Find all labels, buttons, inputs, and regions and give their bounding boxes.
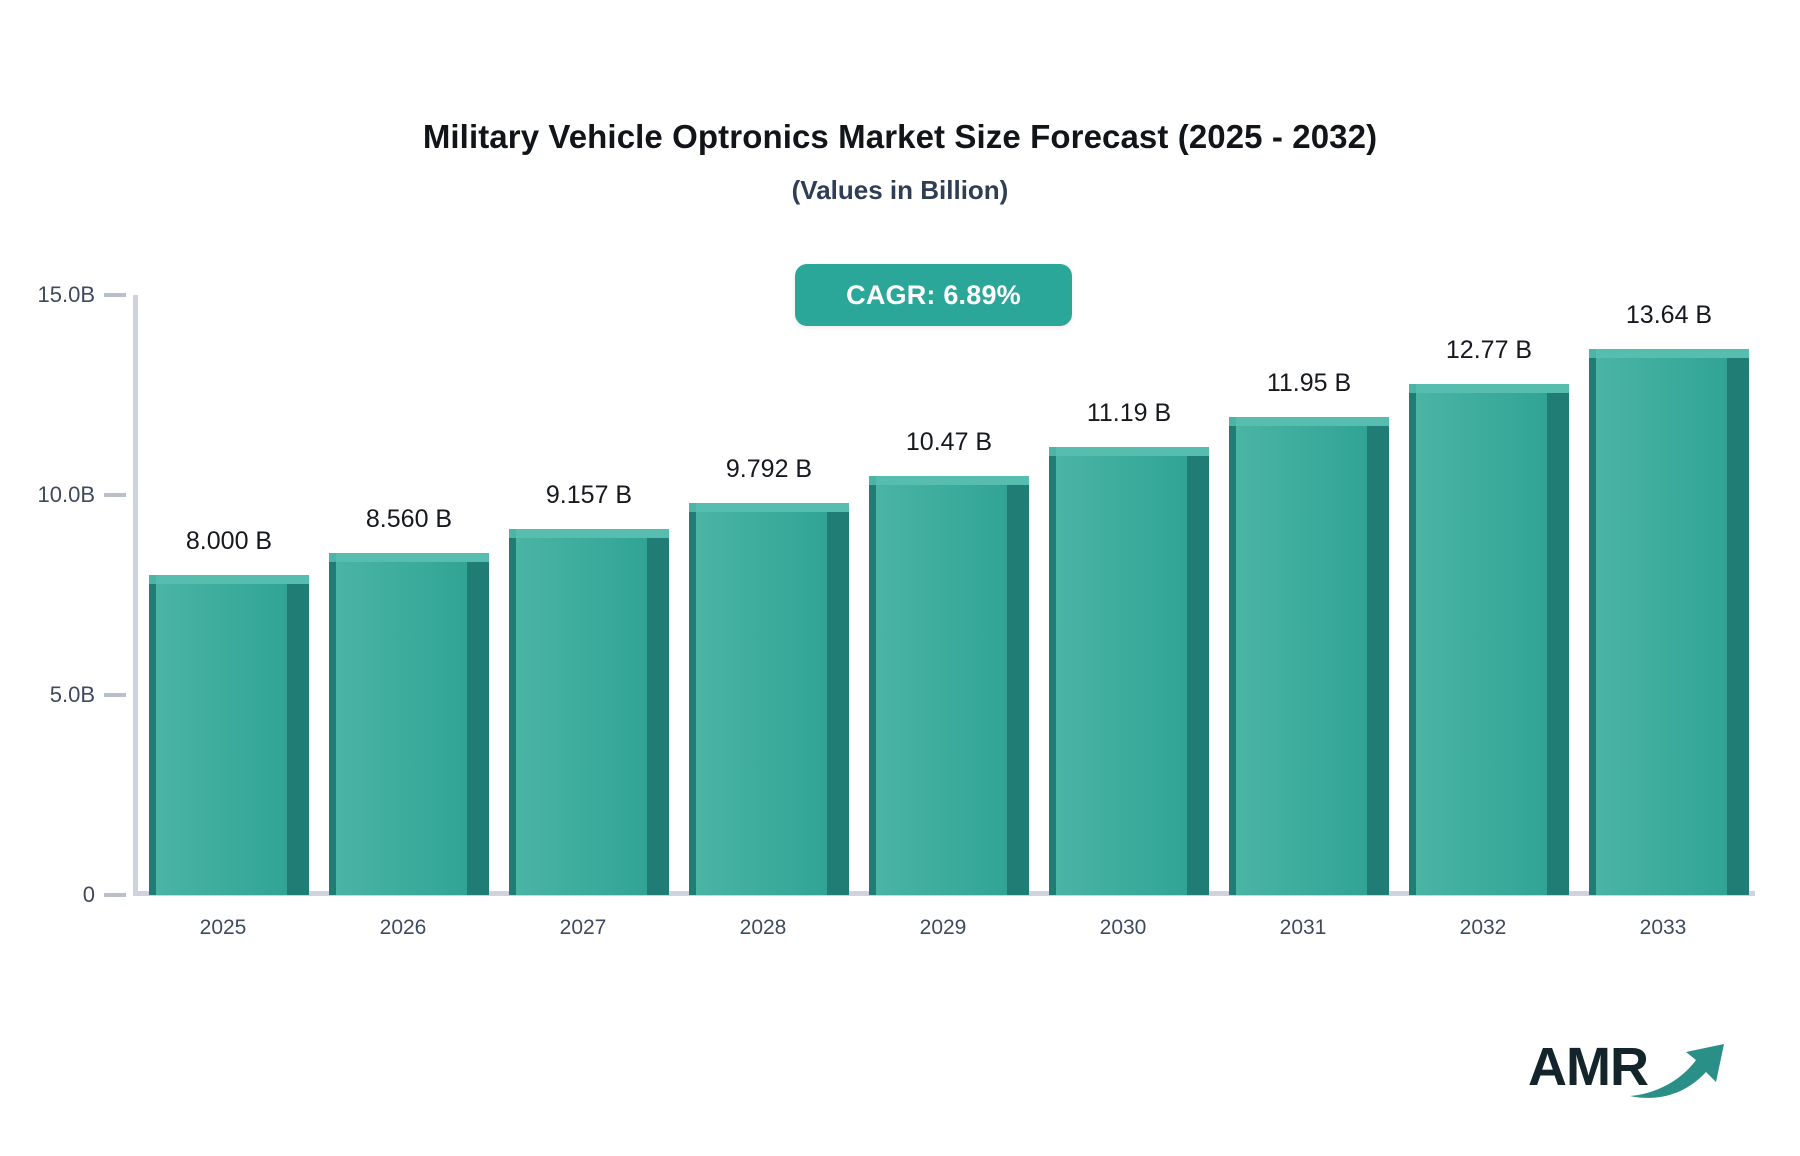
bar-side-face <box>647 538 669 895</box>
bar-front-face <box>1589 349 1727 895</box>
bar-value-label: 12.77 B <box>1379 336 1599 365</box>
bar[interactable] <box>149 575 287 895</box>
x-axis-tick-label: 2030 <box>1023 916 1223 940</box>
bar-left-edge <box>509 538 516 895</box>
bar[interactable] <box>1229 417 1367 895</box>
bar-value-label: 9.792 B <box>659 455 879 484</box>
bar-side-face <box>1367 426 1389 895</box>
bar-top-face <box>1596 349 1749 358</box>
bar-front-face <box>869 476 1007 895</box>
x-axis-tick-label: 2033 <box>1563 916 1763 940</box>
bar-top-face <box>876 476 1029 485</box>
bar-left-edge <box>1409 393 1416 895</box>
bar-front-face <box>149 575 287 895</box>
bar-front-face <box>1409 384 1547 895</box>
bar-value-label: 10.47 B <box>839 428 1059 457</box>
bar-top-face <box>696 503 849 512</box>
bar-side-face <box>1547 393 1569 895</box>
y-axis-tick-label: 10.0B <box>38 482 96 508</box>
bar-top-face <box>1236 417 1389 426</box>
bar-value-label: 11.19 B <box>1019 399 1239 428</box>
y-axis-tick-mark <box>104 693 126 697</box>
bar-top-face <box>516 529 669 538</box>
x-axis-tick-label: 2025 <box>123 916 323 940</box>
bar-value-label: 11.95 B <box>1199 369 1419 398</box>
chart-subtitle: (Values in Billion) <box>0 175 1800 206</box>
bar-side-face <box>467 562 489 895</box>
bar-left-edge <box>1589 358 1596 895</box>
y-axis-tick-label: 5.0B <box>50 682 95 708</box>
bar-front-face <box>689 503 827 895</box>
bar-side-face <box>1187 456 1209 895</box>
bar-side-face <box>1007 485 1029 895</box>
bar-top-face <box>1056 447 1209 456</box>
bar-left-edge <box>329 562 336 895</box>
y-axis-tick-mark <box>104 893 126 897</box>
y-axis-tick-mark <box>104 493 126 497</box>
bar[interactable] <box>1589 349 1727 895</box>
bar-side-face <box>1727 358 1749 895</box>
growth-arrow-icon <box>1628 1038 1732 1102</box>
bar-value-label: 13.64 B <box>1559 301 1779 330</box>
bar-front-face <box>1229 417 1367 895</box>
bar-side-face <box>827 512 849 895</box>
x-axis-tick-label: 2027 <box>483 916 683 940</box>
bar-side-face <box>287 584 309 895</box>
x-axis-tick-label: 2026 <box>303 916 503 940</box>
bar-top-face <box>336 553 489 562</box>
y-axis-tick-mark <box>104 293 126 297</box>
x-axis-tick-label: 2031 <box>1203 916 1403 940</box>
y-axis-tick-label: 0 <box>83 882 95 908</box>
bar[interactable] <box>689 503 827 895</box>
bar[interactable] <box>329 553 467 895</box>
bar-left-edge <box>1049 456 1056 895</box>
bar-left-edge <box>689 512 696 895</box>
bar-front-face <box>509 529 647 895</box>
bar-value-label: 9.157 B <box>479 481 699 510</box>
bar[interactable] <box>509 529 647 895</box>
amr-logo: AMR <box>1528 1032 1728 1112</box>
bar[interactable] <box>1049 447 1187 895</box>
chart-title: Military Vehicle Optronics Market Size F… <box>0 118 1800 156</box>
bar-left-edge <box>149 584 156 895</box>
bar-front-face <box>329 553 467 895</box>
bar-front-face <box>1049 447 1187 895</box>
plot-area <box>133 295 1753 895</box>
bar[interactable] <box>869 476 1007 895</box>
bar-top-face <box>156 575 309 584</box>
bar-left-edge <box>869 485 876 895</box>
x-axis-tick-label: 2032 <box>1383 916 1583 940</box>
x-axis-tick-label: 2029 <box>843 916 1043 940</box>
bar[interactable] <box>1409 384 1547 895</box>
bar-left-edge <box>1229 426 1236 895</box>
y-axis-labels: 15.0B10.0B5.0B0 <box>0 0 95 1156</box>
chart-canvas: Military Vehicle Optronics Market Size F… <box>0 0 1800 1156</box>
x-axis-tick-label: 2028 <box>663 916 863 940</box>
y-axis-tick-label: 15.0B <box>38 282 96 308</box>
bar-top-face <box>1416 384 1569 393</box>
